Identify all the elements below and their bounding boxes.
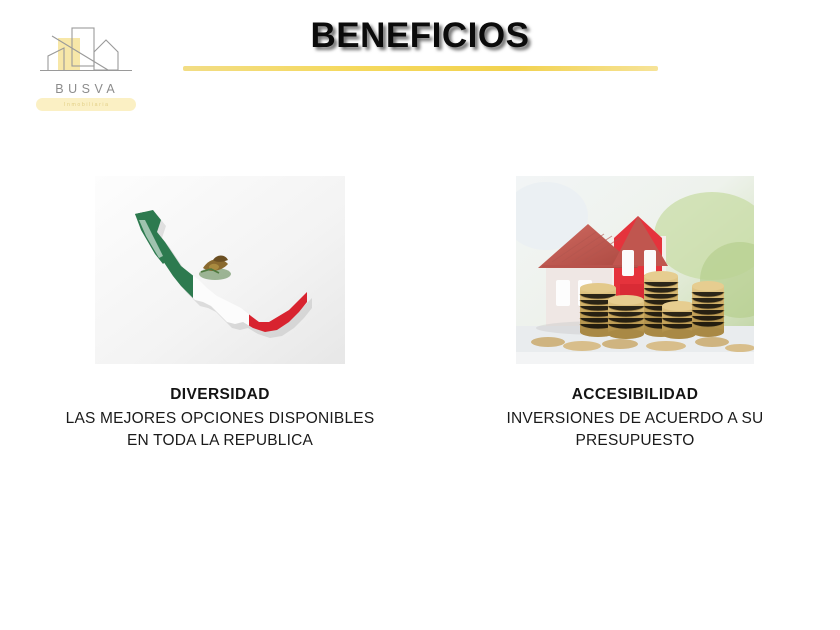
slide-canvas: BUSVA Inmobiliaria BENEFICIOS: [0, 0, 840, 630]
house-with-coin-stacks-image: [516, 176, 754, 364]
brand-name: BUSVA: [30, 82, 140, 96]
benefit-title: DIVERSIDAD: [20, 384, 420, 406]
benefit-body-line-1: INVERSIONES DE ACUERDO A SU: [450, 408, 820, 430]
benefit-title: ACCESIBILIDAD: [450, 384, 820, 406]
brand-tagline: Inmobiliaria: [62, 102, 109, 108]
benefit-body-line-2: PRESUPUESTO: [450, 430, 820, 452]
title-accent-rule: [183, 66, 658, 71]
page-title: BENEFICIOS: [0, 16, 840, 56]
mexico-map-flag-image: [95, 176, 345, 364]
benefit-body-line-2: EN TODA LA REPUBLICA: [20, 430, 420, 452]
benefit-card-accesibilidad: ACCESIBILIDAD INVERSIONES DE ACUERDO A S…: [450, 176, 820, 452]
benefit-body-line-1: LAS MEJORES OPCIONES DISPONIBLES: [20, 408, 420, 430]
benefit-caption-accesibilidad: ACCESIBILIDAD INVERSIONES DE ACUERDO A S…: [450, 384, 820, 452]
benefit-caption-diversidad: DIVERSIDAD LAS MEJORES OPCIONES DISPONIB…: [20, 384, 420, 452]
benefit-card-diversidad: DIVERSIDAD LAS MEJORES OPCIONES DISPONIB…: [20, 176, 420, 452]
brand-tagline-pill: Inmobiliaria: [36, 98, 136, 111]
